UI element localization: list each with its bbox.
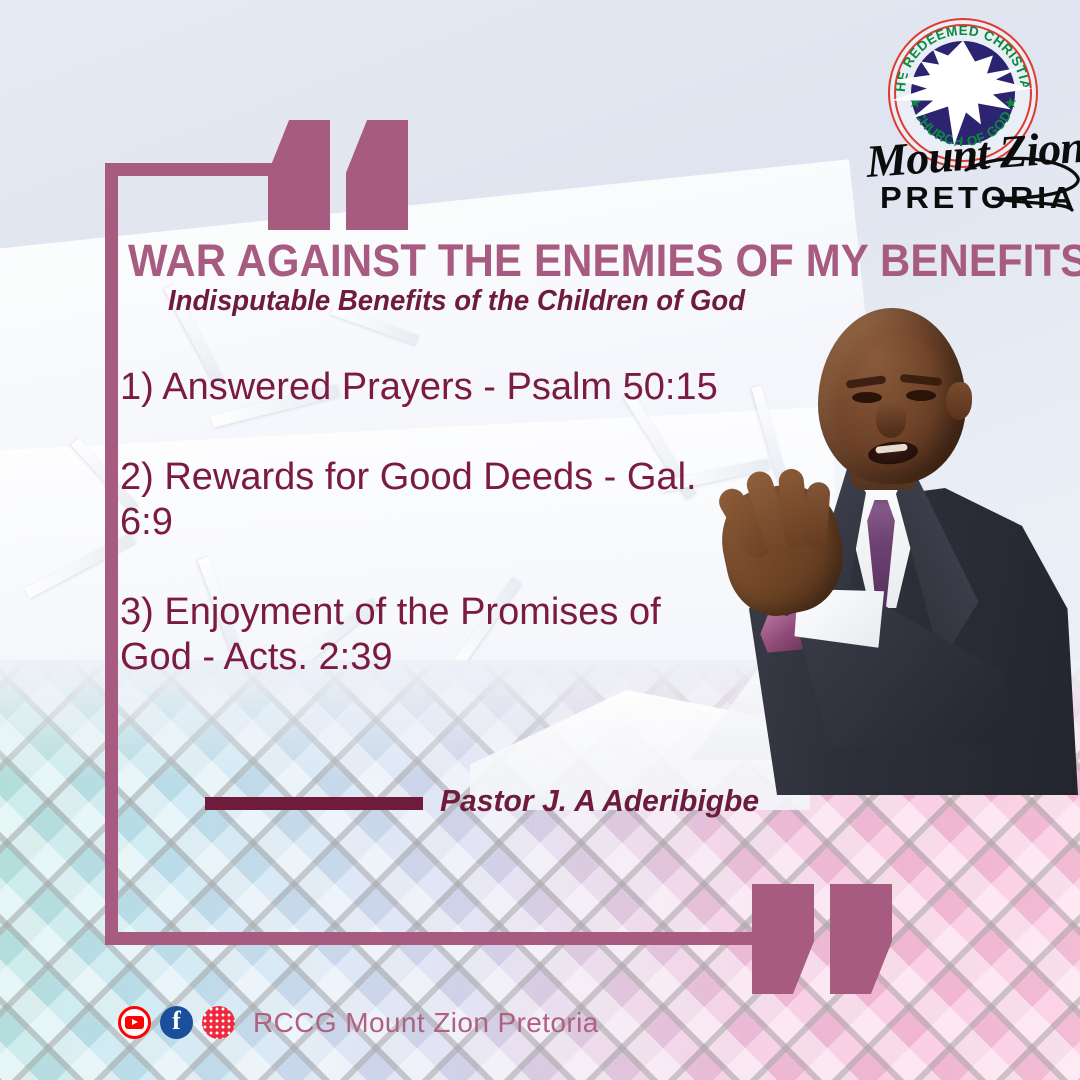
sermon-flyer: WAR AGAINST THE ENEMIES OF MY BENEFITS I… xyxy=(0,0,1080,1080)
sermon-subtitle: Indisputable Benefits of the Children of… xyxy=(168,286,890,318)
speaker-nose xyxy=(876,402,906,438)
sermon-point: 1) Answered Prayers - Psalm 50:15 xyxy=(120,365,730,409)
sermon-point: 2) Rewards for Good Deeds - Gal. 6:9 xyxy=(120,455,730,544)
instagram-icon[interactable] xyxy=(202,1006,235,1039)
open-quote-icon xyxy=(268,120,413,230)
footer-handle: RCCG Mount Zion Pretoria xyxy=(253,1007,599,1039)
rccg-logo: THE REDEEMED CHRISTIAN ★ CHURCH OF GOD ★… xyxy=(866,18,1066,223)
close-quote-icon xyxy=(752,884,897,994)
byline-rule xyxy=(205,797,423,810)
footer-social-bar: f RCCG Mount Zion Pretoria xyxy=(118,1006,599,1039)
frame-left-bar xyxy=(105,163,118,945)
speaker-eye-left xyxy=(852,392,882,403)
speaker-name: Pastor J. A Aderibigbe xyxy=(440,783,759,819)
speaker-ear xyxy=(946,382,972,420)
youtube-icon[interactable] xyxy=(118,1006,151,1039)
frame-top-bar xyxy=(105,163,273,176)
sermon-point: 3) Enjoyment of the Promises of God - Ac… xyxy=(120,590,730,679)
sermon-title: WAR AGAINST THE ENEMIES OF MY BENEFITS xyxy=(128,238,835,283)
frame-bottom-bar xyxy=(105,932,765,945)
speaker-eye-right xyxy=(906,390,936,401)
speaker-photo xyxy=(700,290,1080,790)
logo-location-text: PRETORIA xyxy=(880,180,1077,216)
sermon-points-list: 1) Answered Prayers - Psalm 50:15 2) Rew… xyxy=(120,365,730,679)
speaker-finger xyxy=(803,481,831,548)
facebook-icon[interactable]: f xyxy=(160,1006,193,1039)
